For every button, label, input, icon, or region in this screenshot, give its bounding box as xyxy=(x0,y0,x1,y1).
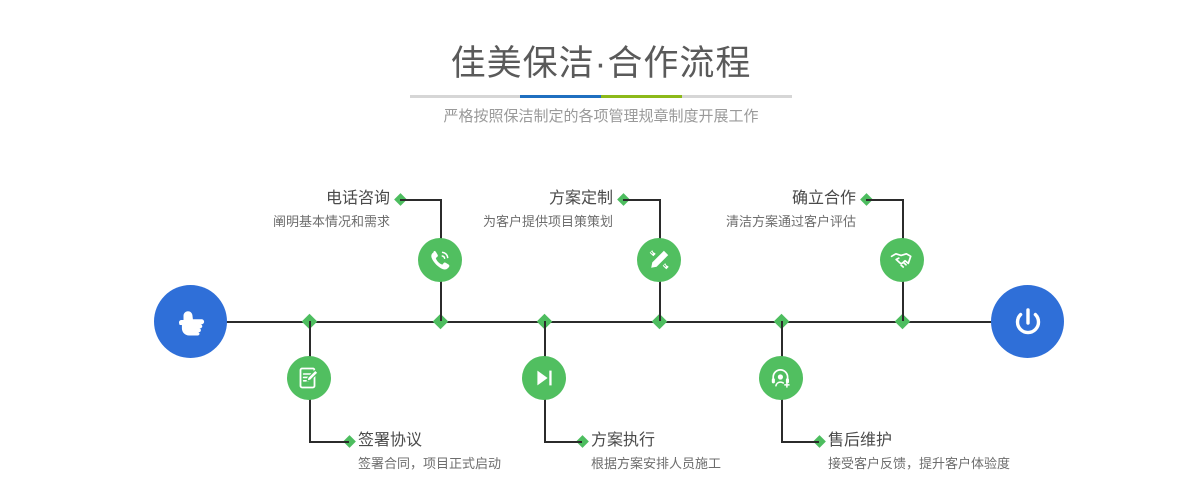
step-icon-plan-execution[interactable] xyxy=(522,356,566,400)
handshake-icon xyxy=(889,247,915,273)
step-label-after-sales-maintenance: 售后维护 接受客户反馈，提升客户体验度 xyxy=(828,430,1108,474)
connector-horizontal xyxy=(309,441,349,443)
title-divider xyxy=(410,95,792,98)
step-label-plan-execution: 方案执行 根据方案安排人员施工 xyxy=(591,430,851,474)
connector-horizontal xyxy=(544,441,582,443)
connector-horizontal xyxy=(400,199,440,201)
step-icon-after-sales-maintenance[interactable] xyxy=(759,356,803,400)
step-label-phone-consultation: 电话咨询 阐明基本情况和需求 xyxy=(150,188,390,232)
page-title: 佳美保洁·合作流程 xyxy=(0,42,1202,86)
timeline-start-marker xyxy=(154,285,227,358)
step-description: 接受客户反馈，提升客户体验度 xyxy=(828,454,1108,474)
document-edit-icon xyxy=(296,365,322,391)
divider-segment-green xyxy=(601,95,682,98)
divider-segment-blue xyxy=(520,95,601,98)
headset-plus-icon xyxy=(768,365,794,391)
cooperation-process-infographic: 佳美保洁·合作流程 严格按照保洁制定的各项管理规章制度开展工作 xyxy=(0,0,1202,502)
step-title: 电话咨询 xyxy=(150,188,390,210)
connector-horizontal xyxy=(781,441,819,443)
page-subtitle: 严格按照保洁制定的各项管理规章制度开展工作 xyxy=(0,106,1202,128)
step-label-plan-customization: 方案定制 为客户提供项目策策划 xyxy=(380,188,613,232)
pencil-ruler-icon xyxy=(646,247,672,273)
power-icon xyxy=(1008,302,1048,342)
step-description: 根据方案安排人员施工 xyxy=(591,454,851,474)
connector-horizontal xyxy=(623,199,659,201)
play-skip-icon xyxy=(531,365,557,391)
step-icon-phone-consultation[interactable] xyxy=(418,238,462,282)
step-icon-sign-agreement[interactable] xyxy=(287,356,331,400)
step-icon-establish-cooperation[interactable] xyxy=(880,238,924,282)
step-title: 售后维护 xyxy=(828,430,1108,452)
step-description: 为客户提供项目策策划 xyxy=(380,212,613,232)
step-icon-plan-customization[interactable] xyxy=(637,238,681,282)
step-description: 阐明基本情况和需求 xyxy=(150,212,390,232)
pointing-hand-icon xyxy=(171,302,211,342)
step-label-sign-agreement: 签署协议 签署合同，项目正式启动 xyxy=(358,430,618,474)
phone-ring-icon xyxy=(427,247,453,273)
timeline-axis xyxy=(155,321,1048,323)
step-description: 签署合同，项目正式启动 xyxy=(358,454,618,474)
timeline-end-marker xyxy=(991,285,1064,358)
connector-horizontal xyxy=(866,199,902,201)
